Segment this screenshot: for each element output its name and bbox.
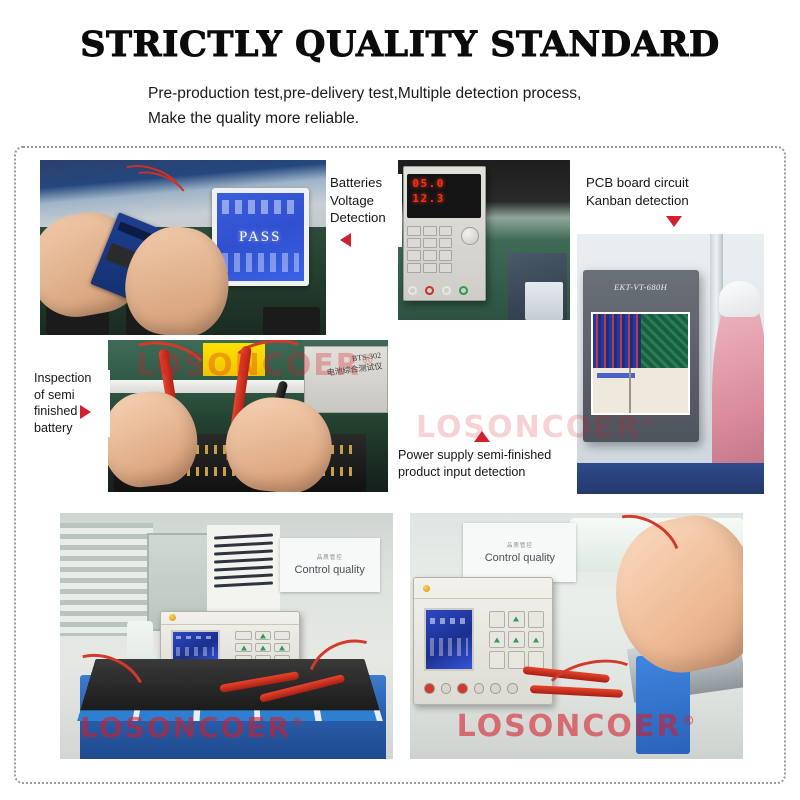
pcb-image-view: [593, 314, 641, 368]
psu-button[interactable]: [407, 238, 421, 248]
brand-logo-icon: [423, 585, 430, 592]
tester-key-left[interactable]: [235, 643, 251, 652]
port[interactable]: [507, 683, 518, 694]
control-quality-sign: 品质管控 Control quality: [280, 538, 380, 592]
quality-standard-infographic: STRICTLY QUALITY STANDARD Pre-production…: [0, 0, 800, 800]
power-switch[interactable]: [408, 286, 417, 295]
port-red[interactable]: [424, 683, 435, 694]
control-button-grid[interactable]: [407, 226, 452, 274]
page-subtitle: Pre-production test,pre-delivery test,Mu…: [0, 81, 800, 131]
port-red[interactable]: [457, 683, 468, 694]
annotation-pcb-board-kanban: PCB board circuit Kanban detection: [586, 174, 762, 227]
psu-button[interactable]: [407, 226, 421, 236]
annotation-batteries-voltage-detection: Batteries Voltage Detection: [330, 174, 402, 247]
tester-key-right[interactable]: [274, 643, 290, 652]
photo-aoi-machine: EKT-VT-680H: [577, 234, 764, 494]
tester-key[interactable]: [528, 611, 544, 628]
port[interactable]: [441, 683, 452, 694]
annotation-line: Voltage: [330, 192, 402, 210]
header: STRICTLY QUALITY STANDARD Pre-production…: [0, 0, 800, 131]
psu-button[interactable]: [423, 250, 437, 260]
tester-key[interactable]: [274, 631, 290, 640]
psu-button[interactable]: [439, 226, 453, 236]
seven-segment-display: 05.0 12.3: [407, 174, 481, 218]
power-terminal-green[interactable]: [459, 286, 468, 295]
annotation-line: battery: [34, 420, 110, 437]
sign-text-cn: 品质管控: [507, 541, 533, 549]
psu-button[interactable]: [407, 250, 421, 260]
triangle-up-icon: [474, 431, 490, 442]
annotation-inspection-semi-finished: Inspection of semi finished battery: [34, 370, 110, 437]
page-title: STRICTLY QUALITY STANDARD: [0, 26, 800, 65]
subtitle-line-2: Make the quality more reliable.: [148, 106, 800, 131]
subtitle-line-1: Pre-production test,pre-delivery test,Mu…: [148, 81, 800, 106]
battery-test-system: BTS-302 电池综合测试仪: [304, 346, 388, 413]
sign-text-cn: 品质管控: [317, 553, 343, 561]
aoi-machine-body: EKT-VT-680H: [583, 270, 699, 442]
display-voltage: 05.0: [412, 177, 476, 192]
aoi-control-panel: [593, 368, 689, 413]
photo-probe-measurement-bench: 品质管控 Control quality: [410, 513, 743, 759]
tester-brand-strip: [161, 612, 299, 624]
port[interactable]: [490, 683, 501, 694]
tester-lcd-screen: [424, 608, 474, 671]
collage-frame: PASS Batteries Voltage Detection: [14, 146, 786, 784]
photo-resistance-tester-bench: 品质管控 Control quality: [60, 513, 393, 759]
tester-brand-strip: [414, 578, 552, 599]
tester-key-down[interactable]: [508, 631, 524, 648]
tester-key-down[interactable]: [255, 643, 271, 652]
annotation-line: Batteries: [330, 174, 402, 192]
tester-key[interactable]: [235, 631, 251, 640]
photo-dc-power-supply: 05.0 12.3: [398, 160, 570, 320]
triangle-left-icon: [340, 233, 351, 247]
window-blind: [60, 523, 153, 636]
battery-pack: [525, 282, 563, 320]
display-current: 12.3: [412, 192, 476, 207]
tester-model-text: [434, 586, 436, 591]
machine-model-label: EKT-VT-680H: [583, 282, 699, 292]
annotation-line: of semi: [34, 387, 110, 404]
photo-collage: PASS Batteries Voltage Detection: [16, 148, 784, 782]
fixture-block: [263, 307, 320, 335]
operator-cap: [719, 281, 760, 317]
machine-base: [577, 463, 764, 494]
power-terminal-white[interactable]: [442, 286, 451, 295]
power-supply-unit: 05.0 12.3: [403, 166, 486, 300]
tester-keypad[interactable]: [489, 611, 544, 669]
annotation-line: Power supply semi-finished: [398, 447, 566, 464]
tester-key-right[interactable]: [528, 631, 544, 648]
triangle-down-icon: [666, 216, 682, 227]
brand-logo-icon: [169, 614, 176, 621]
tester-key-up[interactable]: [255, 631, 271, 640]
pcb-detail-view: [641, 314, 689, 368]
psu-button[interactable]: [439, 238, 453, 248]
psu-button[interactable]: [423, 238, 437, 248]
tester-port-row[interactable]: [421, 679, 545, 699]
psu-button[interactable]: [407, 263, 421, 273]
sign-text-en: Control quality: [485, 552, 555, 564]
tester-key-up[interactable]: [508, 611, 524, 628]
sign-text-en: Control quality: [295, 564, 365, 576]
equipment-model-label: BTS-302 电池综合测试仪: [325, 350, 383, 378]
tester-model-text: [180, 615, 182, 620]
tester-key[interactable]: [489, 651, 505, 668]
tester-key-left[interactable]: [489, 631, 505, 648]
annotation-line: PCB board circuit: [586, 174, 762, 192]
psu-button[interactable]: [439, 263, 453, 273]
annotation-line: Kanban detection: [586, 192, 762, 210]
aoi-monitor: [591, 312, 691, 415]
triangle-right-icon: [80, 405, 91, 419]
photo-semi-finished-inspection: BTS-302 电池综合测试仪: [108, 340, 388, 492]
psu-button[interactable]: [423, 226, 437, 236]
tester-key[interactable]: [508, 651, 524, 668]
control-quality-sign: 品质管控 Control quality: [463, 523, 576, 582]
port[interactable]: [474, 683, 485, 694]
annotation-line: Inspection: [34, 370, 110, 387]
lcd-pass-text: PASS: [239, 229, 281, 246]
annotation-line: finished: [34, 403, 77, 420]
power-terminal-red[interactable]: [425, 286, 434, 295]
annotation-power-supply-input-detection: Power supply semi-finished product input…: [398, 431, 566, 480]
tester-key[interactable]: [489, 611, 505, 628]
annotation-line: product input detection: [398, 464, 566, 481]
adjust-knob[interactable]: [461, 227, 479, 245]
annotation-line: Detection: [330, 209, 402, 227]
psu-button[interactable]: [423, 263, 437, 273]
photo-bms-voltage-test: PASS: [40, 160, 326, 335]
psu-button[interactable]: [439, 250, 453, 260]
